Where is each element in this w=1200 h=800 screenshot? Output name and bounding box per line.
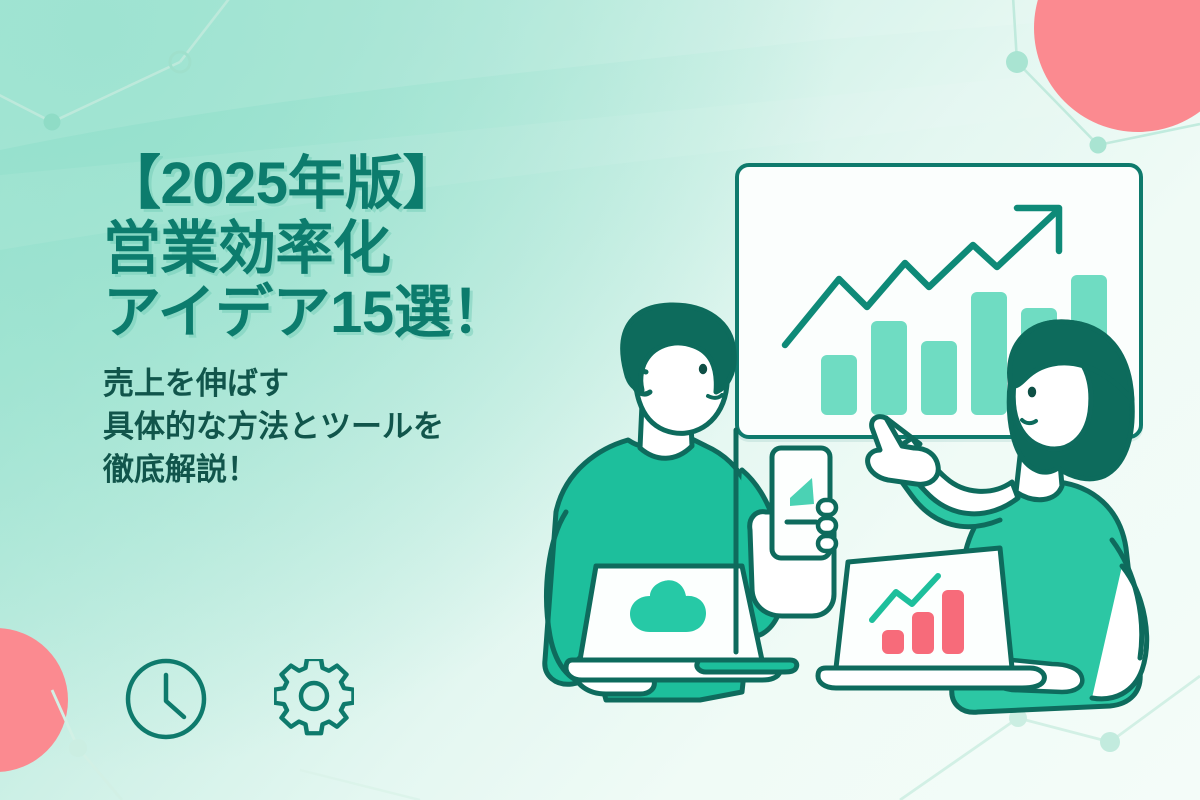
woman-laptop-base — [818, 668, 1044, 688]
page-subtitle: 売上を伸ばす 具体的な方法とツールを 徹底解説！ — [103, 362, 573, 491]
headline-block: 【2025年版】 営業効率化 アイデア15選！ 売上を伸ばす 具体的な方法とツー… — [103, 152, 573, 491]
title-line-1: 【2025年版】 — [103, 152, 573, 217]
title-line-2: 営業効率化 — [103, 217, 573, 282]
page-title: 【2025年版】 営業効率化 アイデア15選！ — [103, 152, 573, 346]
clock-icon — [122, 655, 210, 743]
mini-bar-1 — [882, 630, 904, 654]
gear-icon — [274, 659, 354, 739]
mini-bar-2 — [912, 612, 934, 654]
mini-bar-3 — [942, 590, 964, 654]
subtitle-line-2: 具体的な方法とツールを — [103, 405, 573, 448]
board-stand-foot — [697, 660, 797, 672]
man-eye — [699, 364, 707, 374]
subtitle-line-3: 徹底解説！ — [103, 448, 573, 491]
decorative-icon-row — [122, 655, 354, 743]
woman-pointing-hand — [868, 417, 939, 485]
banner-canvas: 【2025年版】 営業効率化 アイデア15選！ 売上を伸ばす 具体的な方法とツー… — [0, 0, 1200, 800]
woman-eye — [1028, 387, 1036, 398]
man-fingers — [818, 500, 836, 551]
title-line-3: アイデア15選！ — [103, 281, 573, 346]
subtitle-line-1: 売上を伸ばす — [103, 362, 573, 405]
woman-pointing — [818, 322, 1147, 712]
man-with-phone — [545, 305, 836, 700]
